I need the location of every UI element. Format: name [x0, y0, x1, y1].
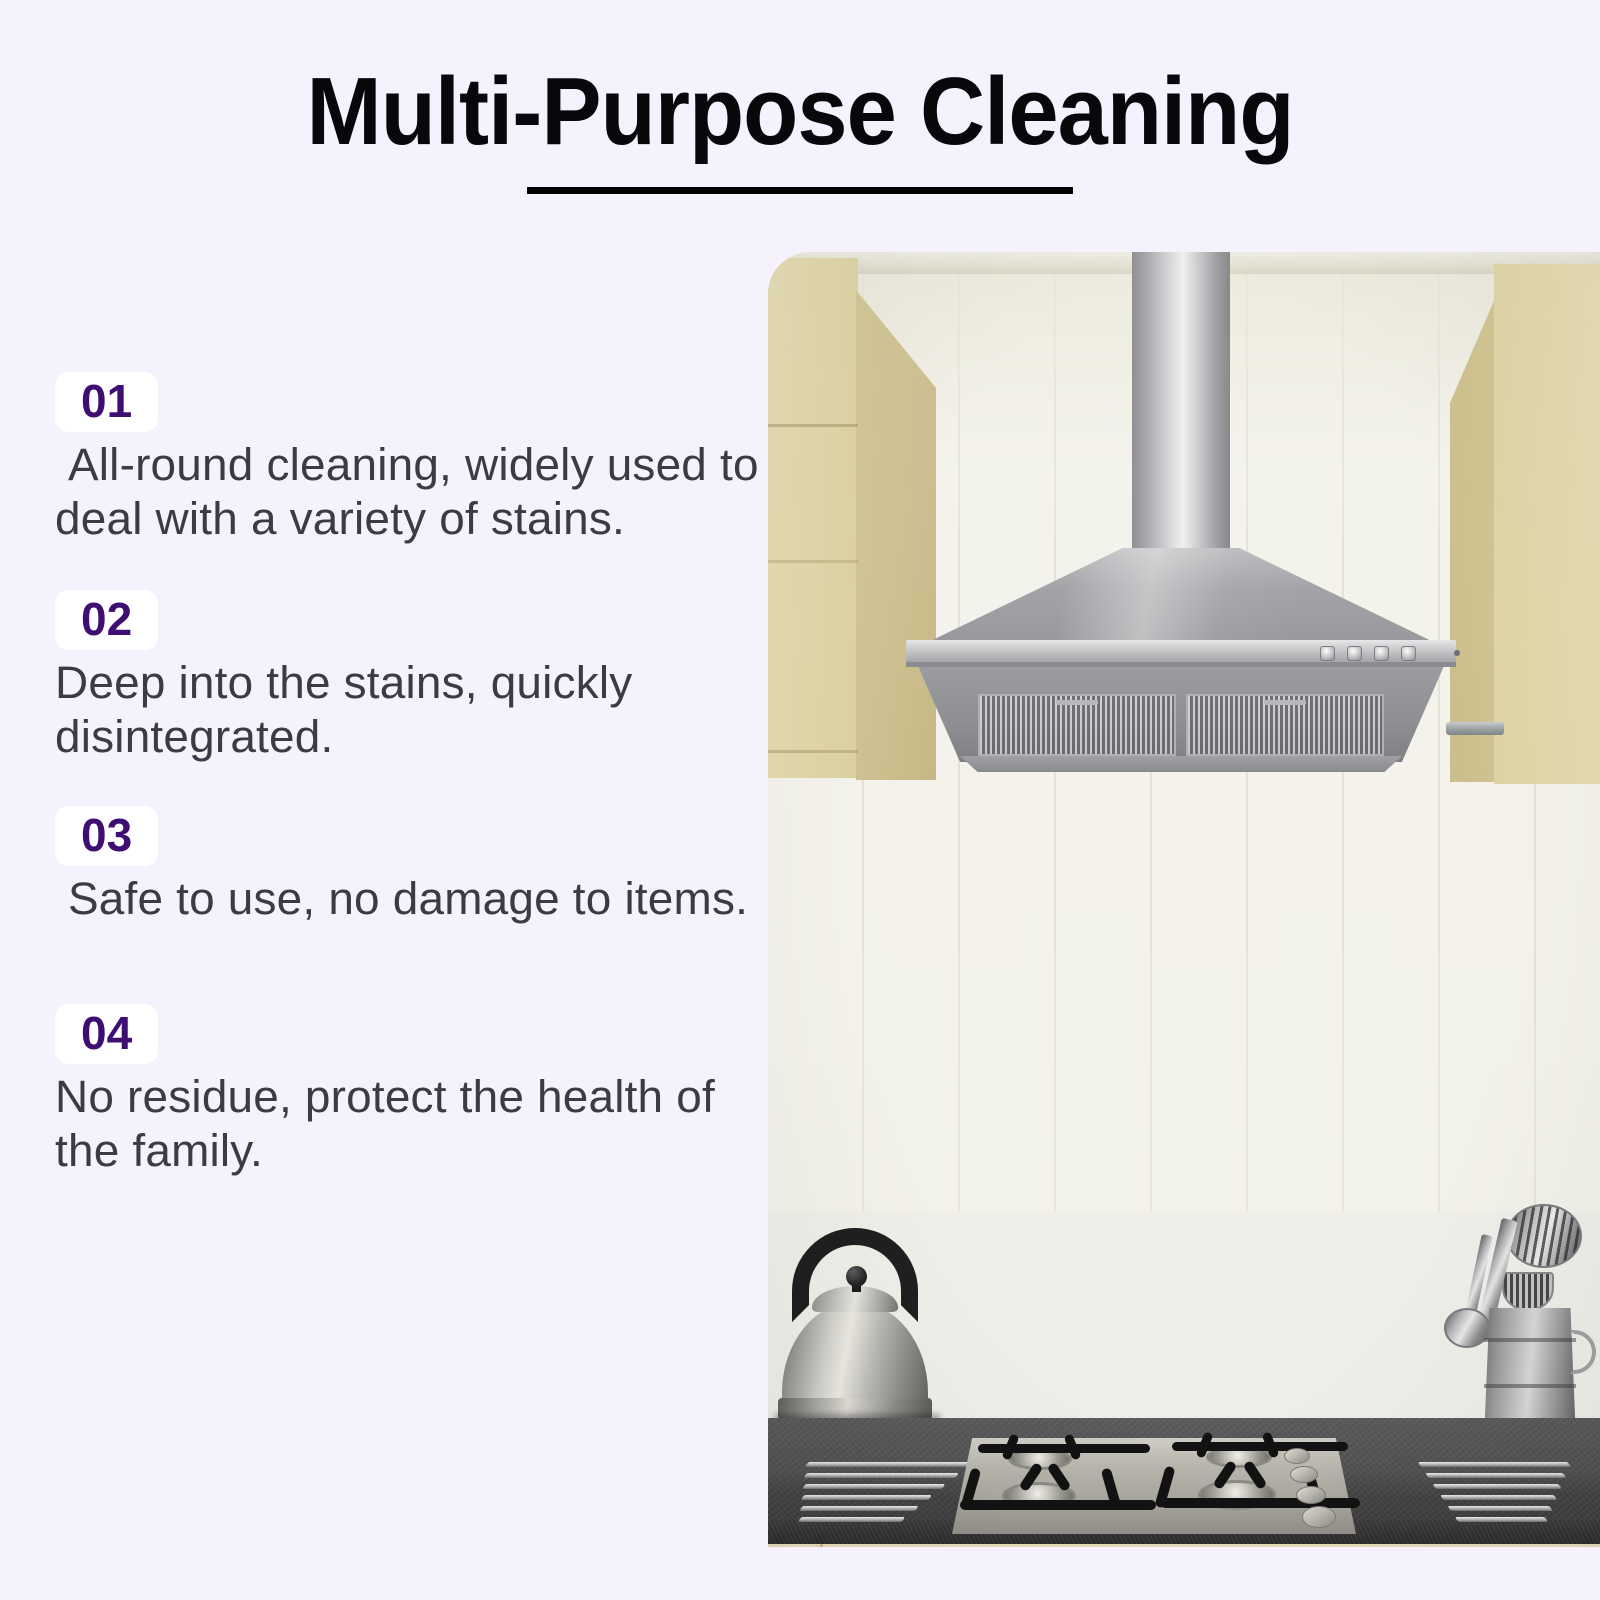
- ladle-bowl-icon: [1444, 1308, 1490, 1348]
- hood-switch-icon: [1320, 646, 1335, 661]
- range-hood-band-edge: [906, 662, 1456, 667]
- feature-badge-03: 03: [55, 806, 158, 866]
- kettle-knob: [846, 1266, 867, 1287]
- feature-number-01: 01: [81, 378, 132, 424]
- feature-item-03: 03 Safe to use, no damage to items.: [55, 806, 767, 926]
- hood-indicator-light-icon: [1454, 650, 1460, 656]
- range-hood-control-switches: [1320, 644, 1436, 662]
- upper-cabinet-right-face: [1494, 264, 1600, 784]
- range-hood-underside: [960, 756, 1402, 772]
- feature-number-03: 03: [81, 812, 132, 858]
- hob-grate-bar: [960, 1500, 1156, 1510]
- feature-item-04: 04 No residue, protect the health of the…: [55, 1004, 767, 1178]
- feature-text-01: All-round cleaning, widely used to deal …: [55, 438, 781, 546]
- hood-switch-icon: [1401, 646, 1416, 661]
- cabinet-handle: [1446, 722, 1504, 735]
- range-hood-filter-tab: [1056, 700, 1098, 705]
- feature-badge-02: 02: [55, 590, 158, 650]
- kitchen-photo-inner: [768, 252, 1600, 1547]
- range-hood-filter-tab: [1264, 700, 1306, 705]
- hood-switch-icon: [1347, 646, 1362, 661]
- strainer-scoop-icon: [1502, 1272, 1554, 1310]
- feature-text-03: Safe to use, no damage to items.: [55, 872, 781, 926]
- feature-badge-01: 01: [55, 372, 158, 432]
- cabinet-seam: [768, 560, 858, 563]
- hood-switch-icon: [1374, 646, 1389, 661]
- feature-item-01: 01 All-round cleaning, widely used to de…: [55, 372, 767, 546]
- feature-text-02: Deep into the stains, quickly disintegra…: [55, 656, 781, 764]
- hob-knob: [1284, 1448, 1310, 1464]
- feature-number-04: 04: [81, 1010, 132, 1056]
- pot-band: [1484, 1338, 1576, 1342]
- base-cabinet-upper-drawer: [768, 1544, 1600, 1547]
- cabinet-seam: [768, 750, 858, 753]
- pot-handle: [1570, 1330, 1596, 1374]
- range-hood-chimney: [1132, 252, 1230, 552]
- feature-text-04: No residue, protect the health of the fa…: [55, 1070, 781, 1178]
- feature-item-02: 02 Deep into the stains, quickly disinte…: [55, 590, 767, 764]
- pot-band: [1484, 1384, 1576, 1388]
- header: Multi-Purpose Cleaning: [0, 62, 1600, 194]
- page-title: Multi-Purpose Cleaning: [48, 62, 1552, 163]
- upper-cabinet-left-face: [768, 258, 858, 778]
- poster-canvas: Multi-Purpose Cleaning 01 All-round clea…: [0, 0, 1600, 1600]
- hob-knob: [1302, 1506, 1336, 1528]
- slotted-skimmer-icon: [1506, 1204, 1582, 1268]
- hob-knob: [1296, 1486, 1326, 1504]
- cabinet-seam: [820, 1544, 823, 1547]
- cabinet-seam: [768, 424, 858, 427]
- kitchen-photo: [768, 252, 1600, 1547]
- feature-number-02: 02: [81, 596, 132, 642]
- hob-control-knobs: [1284, 1448, 1360, 1528]
- hob-knob: [1290, 1466, 1318, 1483]
- feature-badge-04: 04: [55, 1004, 158, 1064]
- title-underline-rule: [527, 187, 1073, 194]
- feature-list: 01 All-round cleaning, widely used to de…: [55, 372, 767, 1178]
